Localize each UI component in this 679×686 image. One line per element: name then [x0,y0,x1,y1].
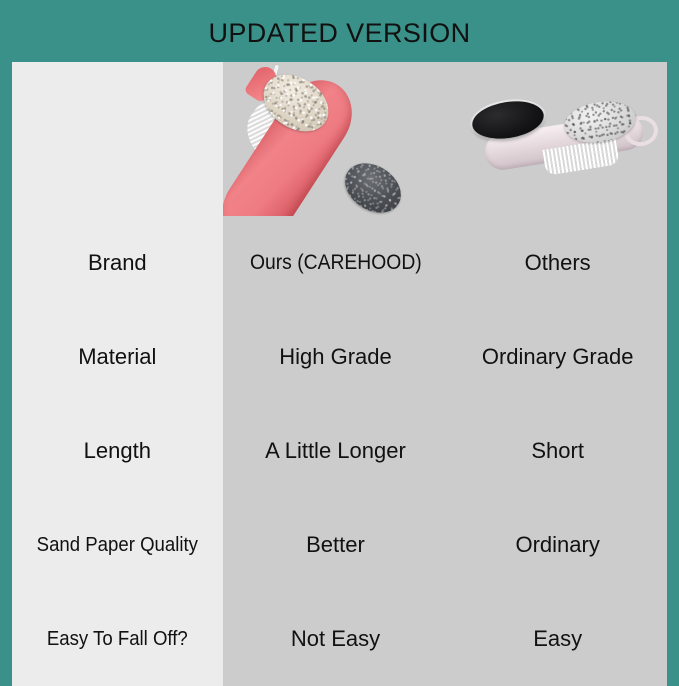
row-value-others-length: Short [448,404,667,498]
table-row-product-images [12,62,667,216]
row-value-others-sand-paper-quality: Ordinary [448,498,667,592]
row-label-text: Easy To Fall Off? [19,628,215,651]
page-title: UPDATED VERSION [208,20,470,47]
row-value-others-easy-to-fall-off: Easy [448,592,667,686]
ours-product-stage [223,62,449,216]
cell-value-text: Ordinary Grade [448,344,667,369]
table-row: Material High Grade Ordinary Grade [12,310,667,404]
row-label-sand-paper-quality: Sand Paper Quality [12,498,223,592]
others-product-image-cell [448,62,667,216]
table-row: Sand Paper Quality Better Ordinary [12,498,667,592]
row-value-ours-length: A Little Longer [223,404,449,498]
row-value-others-brand: Others [448,216,667,310]
title-bar: UPDATED VERSION [0,0,679,62]
row-label-material: Material [12,310,223,404]
cell-value-text: Ordinary [448,532,667,557]
row-value-ours-easy-to-fall-off: Not Easy [223,592,449,686]
row-value-others-material: Ordinary Grade [448,310,667,404]
cell-value-text: Easy [448,626,667,651]
cell-value-text: Not Easy [223,626,449,651]
emery-pad-icon [335,153,409,216]
comparison-table: Brand Ours (CAREHOOD) Others Material Hi… [12,62,667,686]
cell-value-text: Others [448,250,667,275]
row-value-ours-material: High Grade [223,310,449,404]
row-label-text: Material [12,344,223,369]
image-row-empty-label-cell [12,62,223,216]
cell-value-text: High Grade [223,344,449,369]
row-label-brand: Brand [12,216,223,310]
row-label-text: Length [12,438,223,463]
row-label-text: Sand Paper Quality [19,534,215,557]
others-product-stage [448,62,667,216]
ours-product-image-cell [223,62,449,216]
row-value-ours-sand-paper-quality: Better [223,498,449,592]
table-row: Easy To Fall Off? Not Easy Easy [12,592,667,686]
cell-value-text: A Little Longer [223,438,449,463]
comparison-infographic: UPDATED VERSION [0,0,679,679]
cell-value-text: Ours (CAREHOOD) [232,251,440,275]
row-value-ours-brand: Ours (CAREHOOD) [223,216,449,310]
row-label-easy-to-fall-off: Easy To Fall Off? [12,592,223,686]
white-foot-file-icon [448,62,667,216]
row-label-text: Brand [12,250,223,275]
pink-foot-file-icon [223,62,449,216]
table-row: Length A Little Longer Short [12,404,667,498]
cell-value-text: Short [448,438,667,463]
row-label-length: Length [12,404,223,498]
cell-value-text: Better [223,532,449,557]
table-row: Brand Ours (CAREHOOD) Others [12,216,667,310]
